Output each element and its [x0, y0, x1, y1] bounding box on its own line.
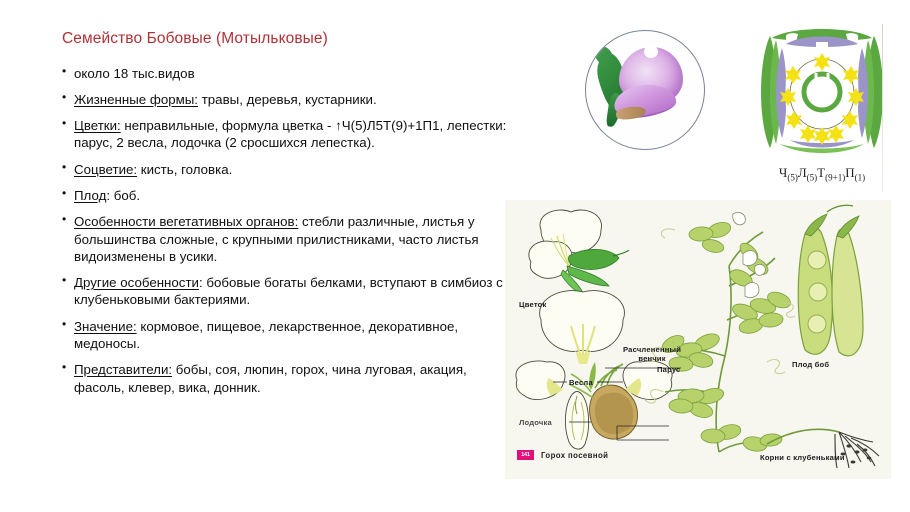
bullet-list: около 18 тыс.видов Жизненные формы: трав… — [62, 65, 517, 396]
plate-caption-badge: 141 — [517, 450, 534, 460]
plate-label-wings: Весла — [569, 378, 593, 387]
formula-pistil-letter: П — [845, 165, 854, 180]
list-item: Значение: кормовое, пищевое, лекарственн… — [62, 318, 517, 353]
list-item: Другие особенности: бобовые богаты белка… — [62, 274, 517, 309]
vertical-divider — [882, 24, 883, 192]
list-item-term: Соцветие: — [74, 162, 137, 177]
list-item-term: Цветки: — [74, 118, 121, 133]
pea-plant-illustration — [505, 200, 891, 479]
list-item-text: травы, деревья, кустарники. — [198, 92, 377, 107]
list-item-term: Значение: — [74, 319, 137, 334]
list-item-text: неправильные, формула цветка - ↑Ч(5)Л5Т(… — [74, 118, 506, 150]
pea-flower-image-panel — [520, 22, 758, 194]
floral-diagram-icon — [752, 22, 892, 162]
formula-stamen-letter: Т — [817, 165, 825, 180]
list-item: Представители: бобы, соя, люпин, горох, … — [62, 361, 517, 396]
list-item: Особенности вегетативных органов: стебли… — [62, 213, 517, 265]
list-item: Соцветие: кисть, головка. — [62, 161, 517, 178]
list-item: Жизненные формы: травы, деревья, кустарн… — [62, 91, 517, 108]
page-title: Семейство Бобовые (Мотыльковые) — [62, 30, 517, 49]
formula-calyx-sub: (5) — [787, 173, 798, 183]
plate-caption: 141 Горох посевной — [517, 450, 608, 460]
list-item-term: Плод — [74, 188, 106, 203]
formula-corolla-sub: (5) — [807, 173, 818, 183]
list-item-term: Другие особенности — [74, 275, 199, 290]
formula-corolla-letter: Л — [798, 165, 807, 180]
list-item-term: Особенности вегетативных органов: — [74, 214, 298, 229]
plate-label-standard: Парус — [657, 365, 680, 374]
flower-formula: Ч(5)Л(5)Т(9+1)П(1) — [752, 165, 892, 183]
plate-label-roots: Корни с клубеньками — [760, 453, 845, 462]
plate-caption-text: Горох посевной — [541, 451, 608, 460]
formula-pistil-sub: (1) — [855, 173, 866, 183]
plate-label-fruit: Плод боб — [792, 360, 829, 369]
list-item-text: кисть, головка. — [137, 162, 232, 177]
formula-stamen-sub: (9+1) — [825, 173, 845, 183]
list-item-term: Представители: — [74, 362, 172, 377]
flower-petal-notch-shape — [644, 45, 658, 58]
plate-label-keel: Лодочка — [519, 418, 552, 427]
list-item: Плод: боб. — [62, 187, 517, 204]
pea-botanical-plate-image: Цветок Расчлененный венчик Парус Весла Л… — [505, 200, 891, 479]
slide-text-column: Семейство Бобовые (Мотыльковые) около 18… — [62, 30, 517, 405]
pea-flower-circle-illustration — [585, 30, 705, 150]
plate-label-dissected-corolla: Расчлененный венчик — [623, 345, 681, 364]
plate-label-dissected-corolla-line2: венчик — [638, 354, 665, 363]
list-item: около 18 тыс.видов — [62, 65, 517, 82]
plate-label-dissected-corolla-line1: Расчлененный — [623, 345, 681, 354]
list-item: Цветки: неправильные, формула цветка - ↑… — [62, 117, 517, 152]
plate-label-flower: Цветок — [519, 300, 547, 309]
list-item-text: около 18 тыс.видов — [74, 66, 195, 81]
list-item-text: : боб. — [106, 188, 140, 203]
list-item-term: Жизненные формы: — [74, 92, 198, 107]
